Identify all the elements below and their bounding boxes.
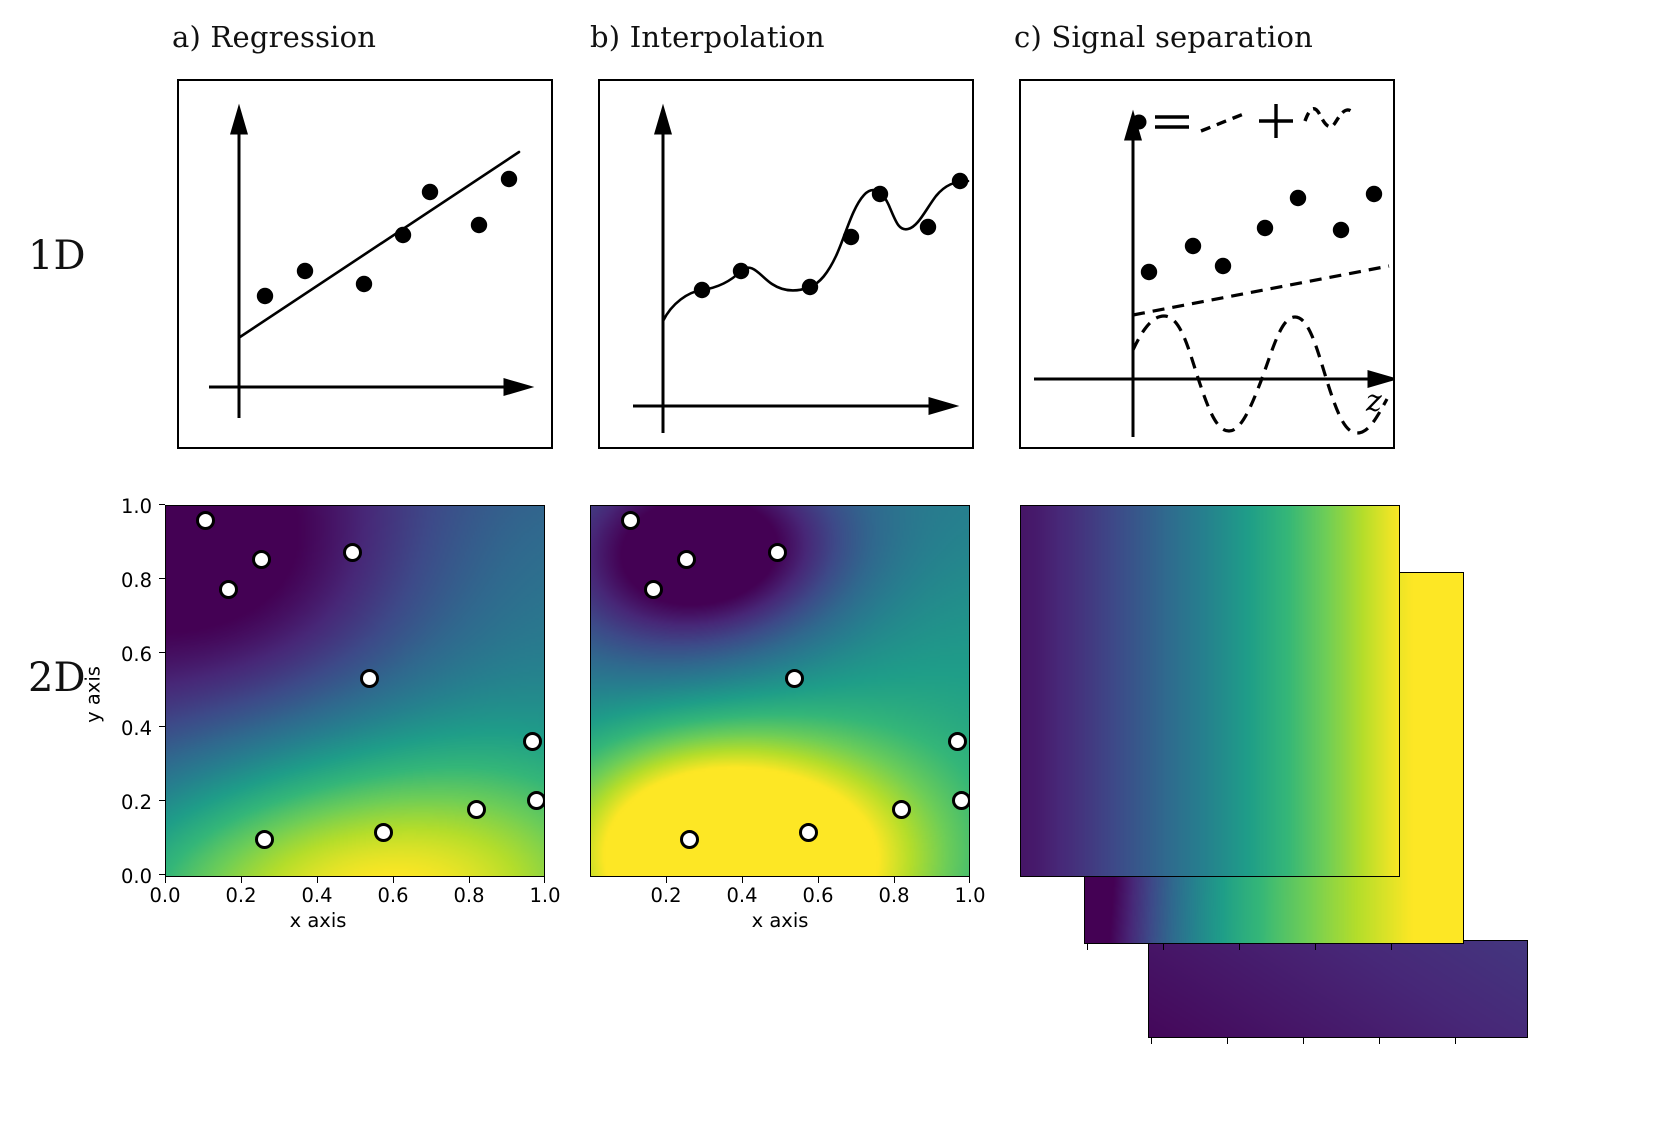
stack-xtick-mark: [1163, 944, 1164, 950]
regression-fit-line: [240, 152, 519, 337]
xtick-label-0-0: 0.0: [139, 884, 191, 907]
xaxis-label-a: x axis: [290, 909, 347, 932]
xtick-label-0-6: 0.6: [792, 884, 844, 907]
stack-xtick-mark: [1239, 944, 1240, 950]
heatmap-b-frame: [590, 505, 970, 877]
xtick-mark: [818, 877, 819, 883]
data-point: [920, 219, 936, 235]
panel-title-b: b) Interpolation: [590, 20, 825, 54]
scatter-marker: [799, 823, 818, 842]
data-point: [257, 288, 273, 304]
stack-layer-top-canvas: [1021, 506, 1399, 876]
data-point: [356, 276, 372, 292]
data-point: [1257, 220, 1273, 236]
legend-plus-icon: [1259, 104, 1293, 138]
data-point: [1185, 238, 1201, 254]
figure-root: a) Regression b) Interpolation c) Signal…: [0, 0, 1667, 1125]
trend-dashed-line: [1133, 266, 1389, 315]
scatter-marker: [374, 823, 393, 842]
panel-c-svg: z: [1021, 81, 1395, 449]
scatter-marker: [527, 791, 545, 810]
stack-xtick-mark: [1315, 944, 1316, 950]
legend-wave-dash-icon: [1305, 109, 1351, 127]
scatter-marker: [768, 543, 787, 562]
x-axis-label-z: z: [1365, 384, 1382, 419]
heatmap-a-frame: [165, 505, 545, 877]
xtick-label-1-0: 1.0: [519, 884, 571, 907]
panel-a-svg: [179, 81, 553, 449]
schematic-panel-b-interpolation: [598, 79, 974, 449]
xtick-mark: [666, 877, 667, 883]
xtick-mark: [894, 877, 895, 883]
scatter-marker: [523, 732, 542, 751]
data-point: [694, 282, 710, 298]
scatter-marker: [948, 732, 967, 751]
data-point: [471, 217, 487, 233]
stack-xtick-mark: [1391, 944, 1392, 950]
ytick-mark: [159, 504, 165, 505]
panel-b-svg: [600, 81, 974, 449]
ytick-mark: [159, 726, 165, 727]
xtick-mark: [241, 877, 242, 883]
xtick-label-0-6: 0.6: [367, 884, 419, 907]
xtick-label-1-0: 1.0: [944, 884, 996, 907]
xtick-mark: [317, 877, 318, 883]
scatter-marker: [343, 543, 362, 562]
yaxis-label-a: y axis: [82, 635, 105, 755]
xtick-mark: [469, 877, 470, 883]
xaxis-label-b: x axis: [752, 909, 809, 932]
stack-xtick-mark: [1227, 1038, 1228, 1044]
legend-row: [1132, 104, 1352, 138]
xtick-label-0-2: 0.2: [215, 884, 267, 907]
xtick-label-0-2: 0.2: [640, 884, 692, 907]
panel-title-a: a) Regression: [172, 20, 376, 54]
ytick-label-0-2: 0.2: [100, 791, 152, 814]
data-point: [395, 227, 411, 243]
stack-layer-top: [1020, 505, 1400, 877]
y-axis-arrow: [1126, 115, 1140, 437]
legend-equals-icon: [1155, 117, 1189, 127]
stack-xtick-mark: [1303, 1038, 1304, 1044]
data-point: [1366, 186, 1382, 202]
xtick-label-0-8: 0.8: [868, 884, 920, 907]
scatter-points: [257, 171, 517, 304]
x-axis-arrow: [633, 399, 954, 413]
x-axis-arrow: [1034, 372, 1393, 386]
scatter-points: [694, 173, 968, 298]
ytick-label-1-0: 1.0: [100, 495, 152, 518]
xtick-mark: [393, 877, 394, 883]
data-point: [422, 184, 438, 200]
xtick-mark: [742, 877, 743, 883]
stack-xtick-mark: [1151, 1038, 1152, 1044]
data-point: [1141, 264, 1157, 280]
ytick-label-0-4: 0.4: [100, 717, 152, 740]
scatter-points: [1141, 186, 1382, 280]
data-point: [501, 171, 517, 187]
y-axis-arrow: [656, 109, 670, 433]
data-point: [1333, 222, 1349, 238]
ytick-mark: [159, 578, 165, 579]
stack-layer-bottom-canvas: [1149, 941, 1527, 1037]
schematic-panel-c-signal-separation: z: [1019, 79, 1395, 449]
scatter-marker: [252, 550, 271, 569]
ytick-label-0-8: 0.8: [100, 569, 152, 592]
row-label-1d: 1D: [28, 233, 86, 279]
panel-title-c: c) Signal separation: [1014, 20, 1313, 54]
ytick-mark: [159, 800, 165, 801]
interpolating-spline: [663, 181, 968, 321]
data-point: [872, 186, 888, 202]
stack-xtick-mark: [1379, 1038, 1380, 1044]
x-axis-arrow: [209, 380, 529, 394]
xtick-mark: [969, 877, 970, 883]
scatter-marker: [677, 550, 696, 569]
data-point: [297, 263, 313, 279]
xtick-label-0-4: 0.4: [716, 884, 768, 907]
oscillation-dashed-wave: [1133, 316, 1387, 433]
scatter-marker: [952, 791, 970, 810]
data-point: [843, 229, 859, 245]
data-point: [733, 263, 749, 279]
data-point: [952, 173, 968, 189]
ytick-mark: [159, 874, 165, 875]
data-point: [1215, 258, 1231, 274]
xtick-label-0-8: 0.8: [443, 884, 495, 907]
schematic-panel-a-regression: [177, 79, 553, 449]
stack-xtick-mark: [1455, 1038, 1456, 1044]
legend-trend-dash-icon: [1201, 113, 1246, 131]
ytick-label-0-6: 0.6: [100, 643, 152, 666]
ytick-mark: [159, 652, 165, 653]
row-label-2d: 2D: [28, 655, 86, 701]
xtick-label-0-4: 0.4: [291, 884, 343, 907]
y-axis-arrow: [232, 109, 246, 418]
xtick-mark: [544, 877, 545, 883]
xtick-mark: [165, 877, 166, 883]
stack-xtick-mark: [1087, 944, 1088, 950]
stack-layer-bottom: [1148, 940, 1528, 1038]
data-point: [1290, 190, 1306, 206]
data-point: [802, 279, 818, 295]
